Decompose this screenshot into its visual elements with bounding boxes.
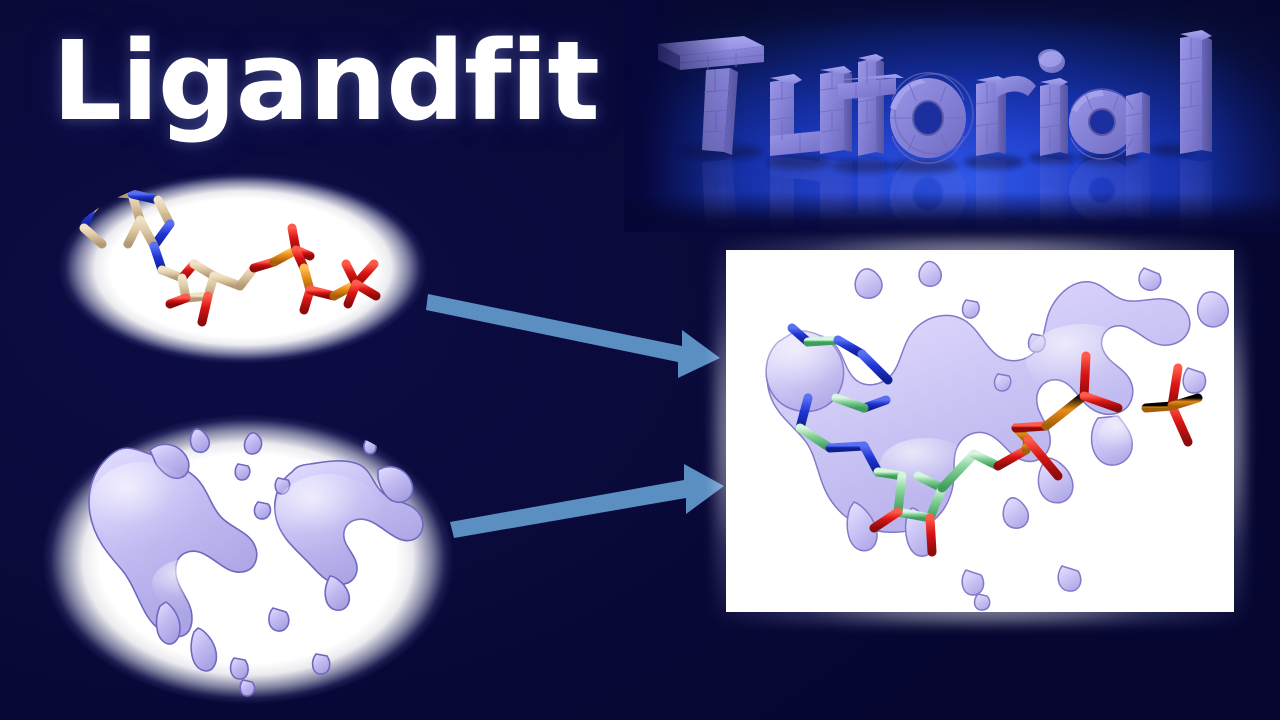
ligand-in-density-icon: [726, 250, 1234, 612]
arrow-ligand-to-result: [424, 282, 724, 392]
tutorial-graphic: [624, 0, 1280, 232]
density-map-art: [42, 414, 454, 704]
tutorial-bottom-fade: [624, 192, 1280, 232]
ligand-model-vignette: [58, 172, 428, 364]
ligand-model-art: [58, 172, 428, 364]
fitted-ligand-art: [726, 250, 1234, 612]
slide-canvas: Ligandfit: [0, 0, 1280, 720]
page-title: Ligandfit: [52, 26, 599, 136]
fitted-result-panel: [726, 250, 1234, 612]
density-map-vignette: [42, 414, 454, 704]
ligand-stick-model-icon: [58, 172, 428, 364]
electron-density-isosurface-icon: [42, 414, 454, 704]
arrow-density-to-result: [446, 452, 736, 562]
